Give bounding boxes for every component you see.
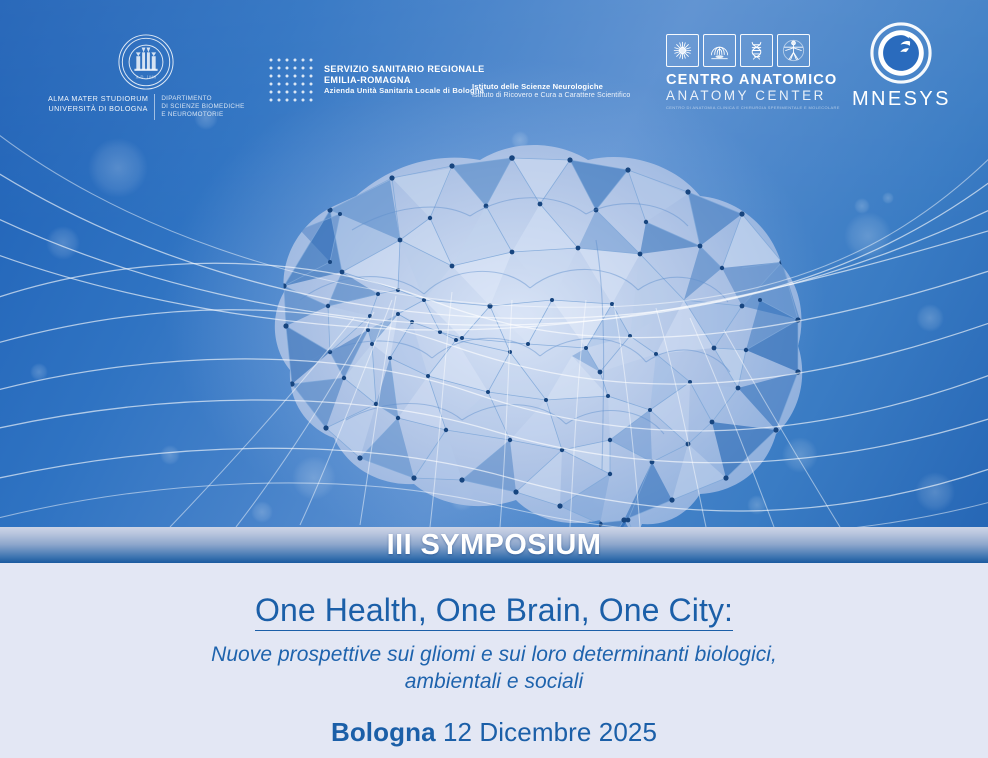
dna-helix-icon	[740, 34, 773, 67]
event-date: 12 Dicembre 2025	[436, 717, 657, 747]
unibo-dept-line2: DI SCIENZE BIOMEDICHE	[161, 103, 244, 111]
event-city: Bologna	[331, 717, 436, 747]
mnesys-wordmark: MNESYS	[852, 88, 951, 111]
ausl-line1: SERVIZIO SANITARIO REGIONALE	[324, 64, 485, 75]
anatomy-icon-row	[666, 34, 840, 67]
neuron-icon	[666, 34, 699, 67]
anatomy-center-name-it: CENTRO ANATOMICO	[666, 72, 840, 88]
event-date-location: Bologna 12 Dicembre 2025	[0, 695, 988, 748]
symposium-poster: A.D. 1088 ALMA MATER STUDIORUM UNIVERSIT…	[0, 0, 988, 758]
anatomy-center-name-en: ANATOMY CENTER	[666, 88, 840, 103]
vitruvian-man-icon	[777, 34, 810, 67]
unibo-name-line1: ALMA MATER STUDIORUM	[48, 94, 148, 104]
mnesys-spiral-head-icon	[870, 22, 932, 84]
anatomy-center-tagline: CENTRO DI ANATOMIA CLINICA E CHIRURGIA S…	[666, 105, 840, 110]
logo-anatomy-center: CENTRO ANATOMICO ANATOMY CENTER CENTRO D…	[666, 34, 840, 110]
unibo-dept-line1: DIPARTIMENTO	[161, 95, 244, 103]
ausl-line3: Azienda Unità Sanitaria Locale di Bologn…	[324, 87, 485, 96]
sponsor-logo-bar: A.D. 1088 ALMA MATER STUDIORUM UNIVERSIT…	[0, 0, 988, 130]
ausl-line2: EMILIA-ROMAGNA	[324, 75, 485, 86]
irccs-line2: Istituto di Ricovero e Cura a Carattere …	[472, 91, 630, 100]
logo-unibo: A.D. 1088 ALMA MATER STUDIORUM UNIVERSIT…	[48, 33, 245, 120]
page-title-text: One Health, One Brain, One City:	[255, 592, 733, 631]
unibo-name-line2: UNIVERSITÀ DI BOLOGNA	[48, 104, 148, 114]
svg-text:A.D. 1088: A.D. 1088	[136, 74, 157, 79]
symposium-label: III SYMPOSIUM	[387, 531, 602, 560]
event-info-panel: One Health, One Brain, One City: Nuove p…	[0, 563, 988, 758]
page-subtitle: Nuove prospettive sui gliomi e sui loro …	[0, 628, 988, 696]
irccs-line1: Istituto delle Scienze Neurologiche	[472, 82, 630, 91]
dot-grid-icon	[268, 57, 316, 103]
brain-dome-icon	[703, 34, 736, 67]
unibo-dept-line3: E NEUROMOTORIE	[161, 111, 244, 119]
page-subtitle-line1: Nuove prospettive sui gliomi e sui loro …	[211, 643, 777, 666]
page-subtitle-line2: ambientali e sociali	[405, 670, 583, 693]
logo-ausl-bologna: SERVIZIO SANITARIO REGIONALE EMILIA-ROMA…	[268, 57, 485, 103]
symposium-banner: III SYMPOSIUM	[0, 527, 988, 563]
unibo-seal-icon: A.D. 1088	[117, 33, 175, 91]
logo-irccs-neuro: Istituto delle Scienze Neurologiche Isti…	[472, 82, 630, 100]
page-title: One Health, One Brain, One City:	[0, 563, 988, 628]
logo-mnesys: MNESYS	[852, 22, 951, 111]
